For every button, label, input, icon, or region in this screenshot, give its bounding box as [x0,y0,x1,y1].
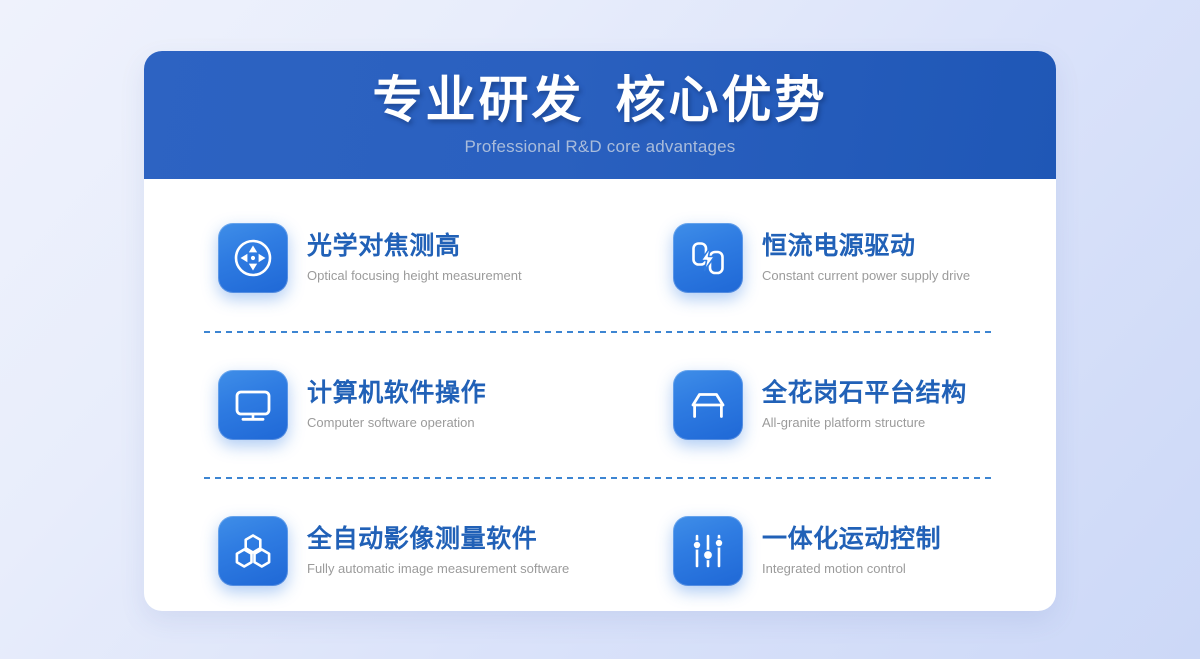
features-grid: 光学对焦测高 Optical focusing height measureme… [144,179,1056,611]
feature-subtitle: All-granite platform structure [762,413,967,432]
feature-item-optical-focus[interactable]: 光学对焦测高 Optical focusing height measureme… [144,223,599,293]
card-header: 专业研发 核心优势 Professional R&D core advantag… [144,51,1056,179]
feature-title: 全花岗石平台结构 [762,377,967,409]
feature-subtitle: Optical focusing height measurement [307,266,522,285]
battery-lightning-power-icon [673,223,743,293]
feature-text: 一体化运动控制 Integrated motion control [762,523,941,580]
feature-text: 恒流电源驱动 Constant current power supply dri… [762,230,970,287]
feature-item-granite-platform[interactable]: 全花岗石平台结构 All-granite platform structure [599,370,1054,440]
hexagon-cluster-icon [218,516,288,586]
feature-subtitle: Computer software operation [307,413,486,432]
computer-monitor-icon [218,370,288,440]
feature-text: 全花岗石平台结构 All-granite platform structure [762,377,967,434]
slider-controls-icon [673,516,743,586]
page-subtitle: Professional R&D core advantages [144,135,1056,159]
feature-text: 光学对焦测高 Optical focusing height measureme… [307,230,522,287]
advantages-card: 专业研发 核心优势 Professional R&D core advantag… [144,51,1056,611]
granite-platform-table-icon [673,370,743,440]
feature-subtitle: Integrated motion control [762,559,941,578]
feature-subtitle: Fully automatic image measurement softwa… [307,559,569,578]
feature-title: 计算机软件操作 [307,377,486,409]
feature-item-measurement-software[interactable]: 全自动影像测量软件 Fully automatic image measurem… [144,516,599,586]
feature-text: 全自动影像测量软件 Fully automatic image measurem… [307,523,569,580]
feature-row: 全自动影像测量软件 Fully automatic image measurem… [144,479,1056,611]
feature-title: 恒流电源驱动 [762,230,970,262]
feature-item-motion-control[interactable]: 一体化运动控制 Integrated motion control [599,516,1054,586]
feature-row: 光学对焦测高 Optical focusing height measureme… [144,179,1056,331]
feature-title: 全自动影像测量软件 [307,523,569,555]
feature-title: 一体化运动控制 [762,523,941,555]
feature-subtitle: Constant current power supply drive [762,266,970,285]
feature-item-software-operation[interactable]: 计算机软件操作 Computer software operation [144,370,599,440]
feature-item-power-drive[interactable]: 恒流电源驱动 Constant current power supply dri… [599,223,1054,293]
feature-text: 计算机软件操作 Computer software operation [307,377,486,434]
feature-row: 计算机软件操作 Computer software operation 全花岗石… [144,333,1056,477]
feature-title: 光学对焦测高 [307,230,522,262]
page-title: 专业研发 核心优势 [144,68,1056,132]
focus-crosshair-arrows-icon [218,223,288,293]
